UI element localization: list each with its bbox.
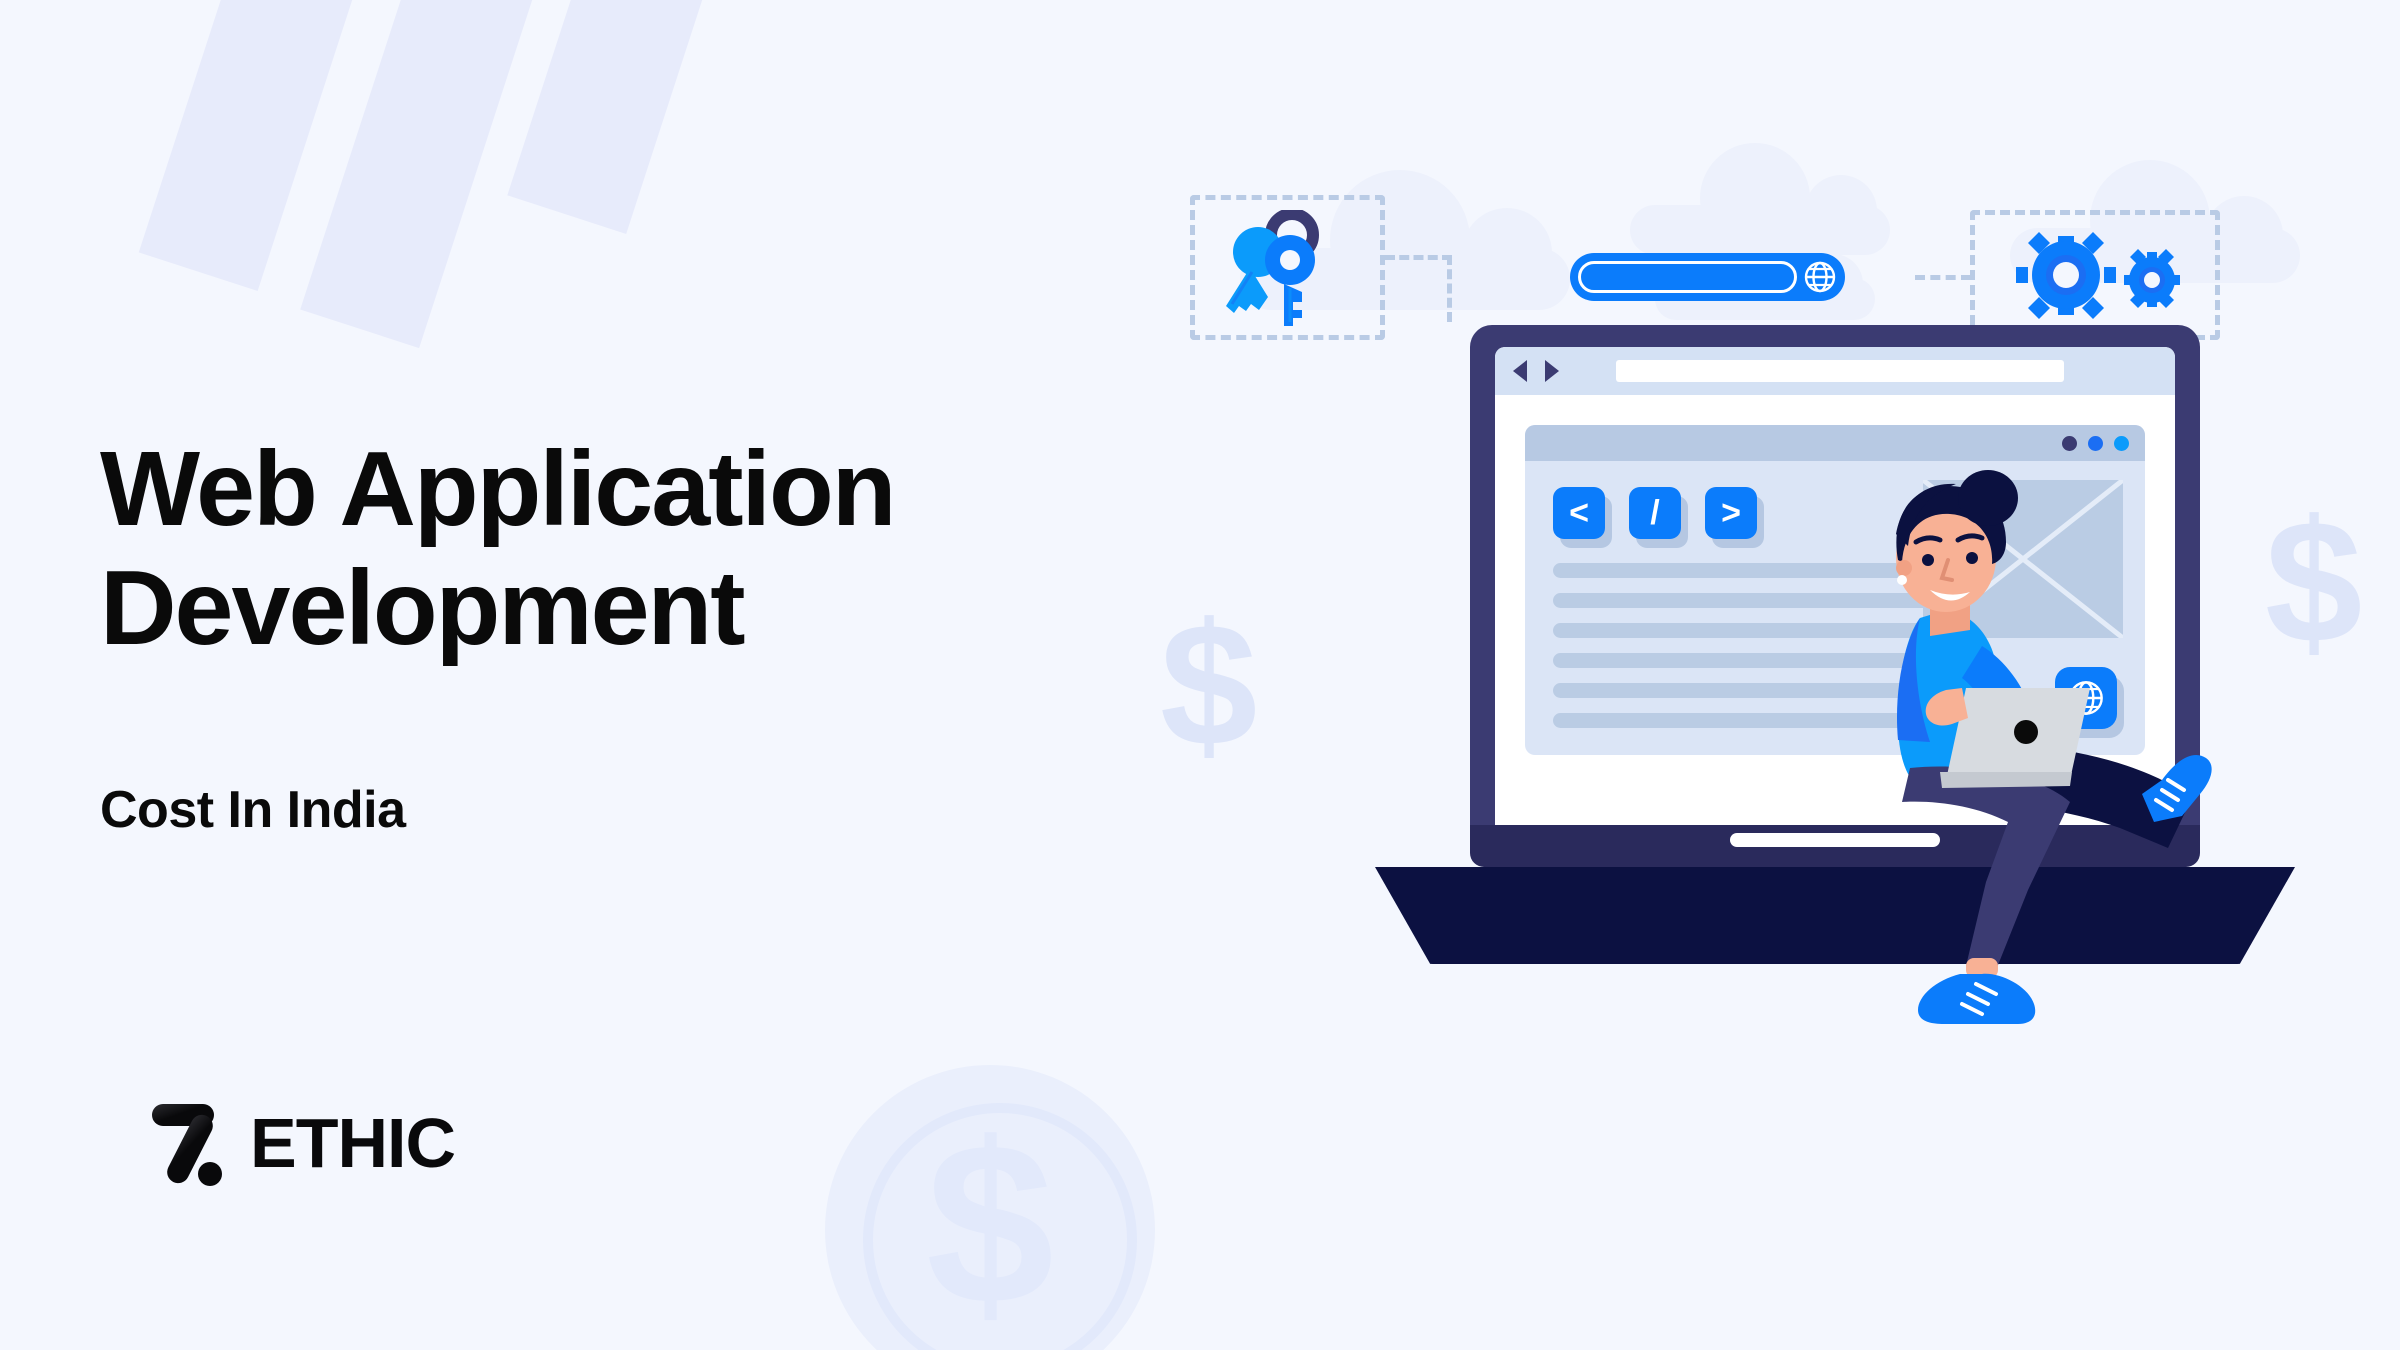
code-chip-slash[interactable]: / (1629, 487, 1681, 539)
brand-logo-text: ETHIC (250, 1108, 455, 1178)
search-input[interactable] (1578, 261, 1797, 293)
decor-coin: $ (825, 1065, 1155, 1350)
decor-stripe-2 (300, 0, 549, 348)
decor-stripe-3 (507, 0, 719, 234)
dashed-connector-right (1915, 275, 1971, 280)
page-subtitle: Cost In India (100, 780, 406, 840)
window-dot-3 (2114, 436, 2129, 451)
page-title: Web Application Development (100, 430, 1150, 667)
code-chip-close[interactable]: > (1705, 487, 1757, 539)
forward-arrow-icon[interactable] (1545, 360, 1559, 382)
browser-toolbar (1495, 347, 2175, 395)
hero-illustration: < / > (1170, 150, 2400, 1280)
seven-logo-icon (148, 1100, 240, 1186)
globe-icon (1803, 260, 1837, 294)
back-arrow-icon[interactable] (1513, 360, 1527, 382)
code-chip-group: < / > (1553, 487, 1757, 539)
page-title-line-1: Web Application (100, 430, 1150, 549)
url-input[interactable] (1616, 360, 2064, 382)
banner-canvas: $ $ $ Web Application Development Cost I… (0, 0, 2400, 1350)
gears-icon (2002, 228, 2192, 323)
window-dot-1 (2062, 436, 2077, 451)
window-dot-2 (2088, 436, 2103, 451)
decor-coin-sign: $ (926, 1109, 1054, 1339)
dashed-connector-left (1385, 255, 1452, 322)
keys-icon (1220, 210, 1350, 330)
search-bar[interactable] (1570, 253, 1845, 301)
person-illustration (1770, 450, 2270, 1050)
code-chip-open[interactable]: < (1553, 487, 1605, 539)
page-title-line-2: Development (100, 549, 1150, 668)
brand-logo: ETHIC (148, 1100, 455, 1186)
